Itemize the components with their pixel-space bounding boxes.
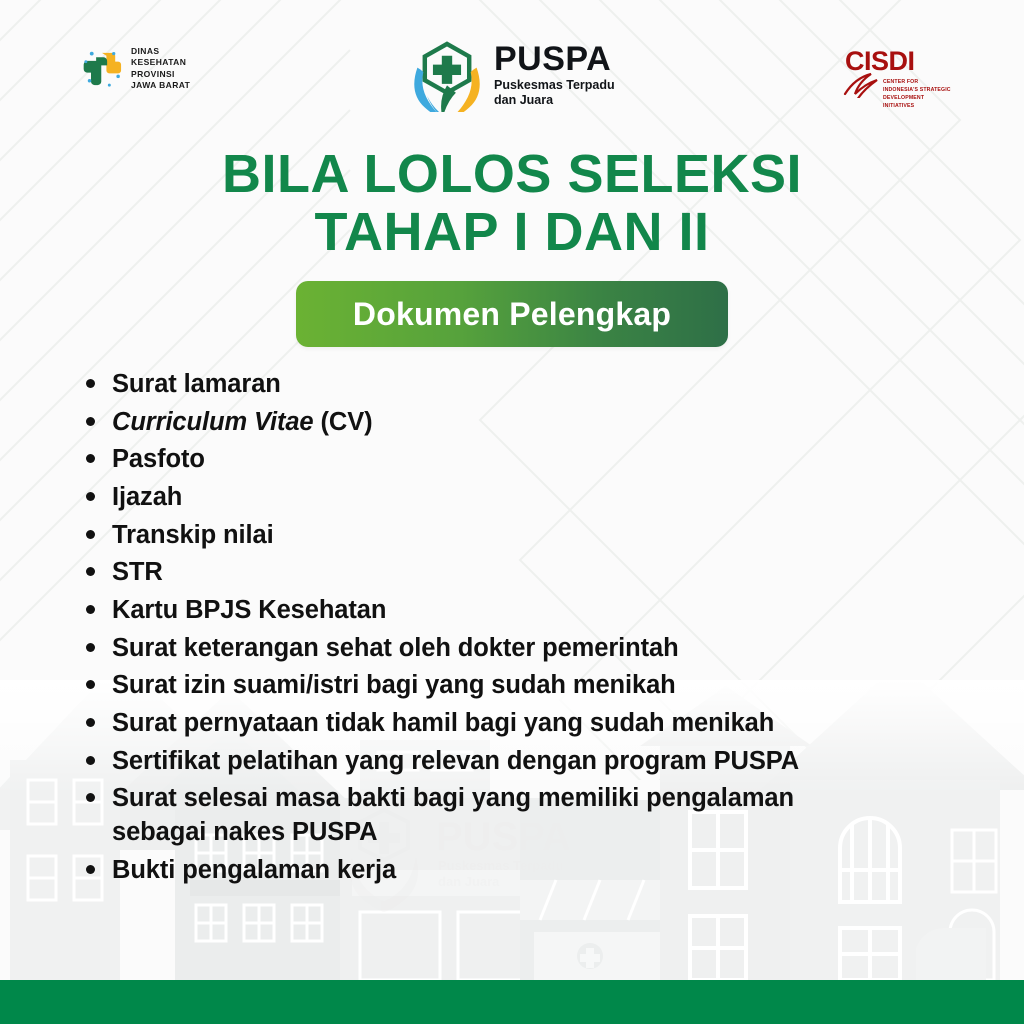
bullet-icon <box>86 379 95 388</box>
bullet-icon <box>86 793 95 802</box>
puspa-mark-icon <box>410 38 484 112</box>
cisdi-sub-line-1: CENTER FOR <box>883 78 955 86</box>
bullet-icon <box>86 680 95 689</box>
headline-line-1: BILA LOLOS SELEKSI <box>222 144 802 204</box>
list-item-label: Sertifikat pelatihan yang relevan dengan… <box>112 745 799 779</box>
section-banner: Dokumen Pelengkap <box>296 281 728 347</box>
list-item: Pasfoto <box>86 443 946 477</box>
cisdi-sub-line-3: DEVELOPMENT INITIATIVES <box>883 94 955 110</box>
dinkes-line-4: JAWA BARAT <box>131 80 190 91</box>
list-item-label: Pasfoto <box>112 443 205 477</box>
list-item-label-italic: Curriculum Vitae <box>112 408 314 436</box>
list-item-label: Surat pernyataan tidak hamil bagi yang s… <box>112 707 774 741</box>
list-item-label: Surat keterangan sehat oleh dokter pemer… <box>112 632 679 666</box>
list-item-label: Curriculum Vitae (CV) <box>112 406 373 440</box>
list-item: Surat pernyataan tidak hamil bagi yang s… <box>86 707 946 741</box>
list-item: Ijazah <box>86 481 946 515</box>
list-item: Sertifikat pelatihan yang relevan dengan… <box>86 745 946 779</box>
logo-puspa: PUSPA Puskesmas Terpadu dan Juara <box>410 38 615 112</box>
bullet-icon <box>86 417 95 426</box>
cisdi-subtitle: CENTER FOR INDONESIA'S STRATEGIC DEVELOP… <box>883 78 955 110</box>
dinkes-line-3: PROVINSI <box>131 69 190 80</box>
list-item: Surat selesai masa bakti bagi yang memil… <box>86 782 946 849</box>
poster-canvas: PUSPA Puskesmas Terpadu dan Juara <box>0 0 1024 1024</box>
bullet-icon <box>86 756 95 765</box>
cisdi-sub-line-2: INDONESIA'S STRATEGIC <box>883 86 955 94</box>
cisdi-swoosh-icon <box>843 72 883 98</box>
section-banner-label: Dokumen Pelengkap <box>353 296 671 333</box>
puspa-subtitle-line-1: Puskesmas Terpadu <box>494 78 615 93</box>
list-item-label: Transkip nilai <box>112 519 274 553</box>
bullet-icon <box>86 605 95 614</box>
puspa-subtitle-line-2: dan Juara <box>494 93 615 108</box>
list-item: Transkip nilai <box>86 519 946 553</box>
list-item-label: Surat lamaran <box>112 368 281 402</box>
bullet-icon <box>86 865 95 874</box>
dinas-kesehatan-mark-icon <box>80 47 124 91</box>
footer-bar <box>0 980 1024 1024</box>
list-item-label: Surat izin suami/istri bagi yang sudah m… <box>112 669 676 703</box>
dinkes-line-1: DINAS <box>131 46 190 57</box>
list-item-label: STR <box>112 556 163 590</box>
list-item: Bukti pengalaman kerja <box>86 854 946 888</box>
puspa-title: PUSPA <box>494 42 615 76</box>
bullet-icon <box>86 567 95 576</box>
bullet-icon <box>86 454 95 463</box>
list-item-label: Ijazah <box>112 481 182 515</box>
dinkes-line-2: KESEHATAN <box>131 57 190 68</box>
headline-line-2: TAHAP I DAN II <box>0 204 1024 262</box>
list-item-label: Surat selesai masa bakti bagi yang memil… <box>112 782 812 849</box>
logo-row: DINAS KESEHATAN PROVINSI JAWA BARAT <box>0 38 1024 128</box>
bullet-icon <box>86 643 95 652</box>
document-requirements-list: Surat lamaranCurriculum Vitae (CV)Pasfot… <box>86 368 946 891</box>
dinas-kesehatan-wordmark: DINAS KESEHATAN PROVINSI JAWA BARAT <box>131 46 190 92</box>
list-item: Surat lamaran <box>86 368 946 402</box>
cisdi-title: CISDI <box>845 48 955 75</box>
logo-cisdi: CISDI CENTER FOR INDONESIA'S STRATEGIC D… <box>845 48 955 106</box>
page-title: BILA LOLOS SELEKSI TAHAP I DAN II <box>0 146 1024 262</box>
bullet-icon <box>86 718 95 727</box>
bullet-icon <box>86 530 95 539</box>
list-item-label: Kartu BPJS Kesehatan <box>112 594 386 628</box>
list-item: Surat keterangan sehat oleh dokter pemer… <box>86 632 946 666</box>
list-item: Kartu BPJS Kesehatan <box>86 594 946 628</box>
logo-dinas-kesehatan-jabar: DINAS KESEHATAN PROVINSI JAWA BARAT <box>80 46 190 92</box>
bullet-icon <box>86 492 95 501</box>
list-item: Surat izin suami/istri bagi yang sudah m… <box>86 669 946 703</box>
list-item: STR <box>86 556 946 590</box>
list-item-label: Bukti pengalaman kerja <box>112 854 396 888</box>
list-item: Curriculum Vitae (CV) <box>86 406 946 440</box>
